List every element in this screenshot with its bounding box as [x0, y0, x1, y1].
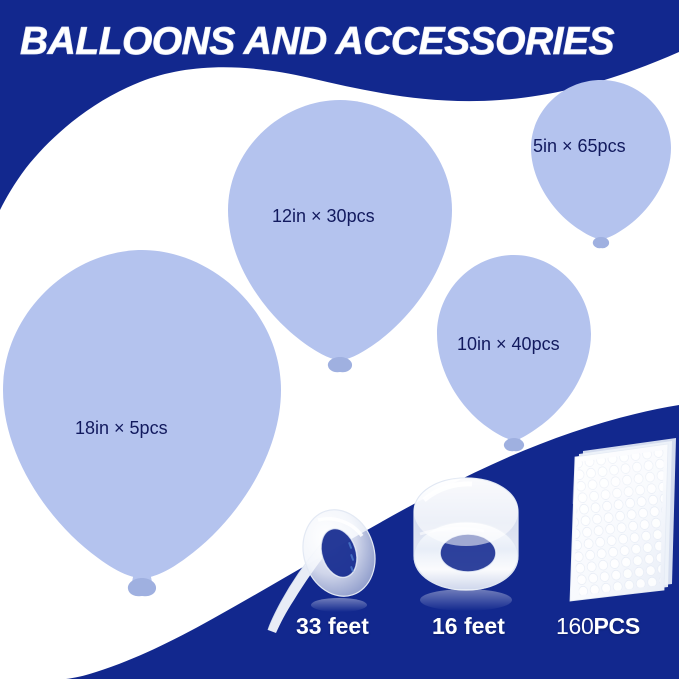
tape-strip-label: 33 feet: [296, 613, 369, 640]
glue-dots-unit: PCS: [593, 613, 639, 639]
arch-tape-label: 16 feet: [432, 613, 505, 640]
background-shapes: [0, 0, 679, 679]
balloon-10in-label: 10in × 40pcs: [457, 334, 560, 355]
balloon-18in-label: 18in × 5pcs: [75, 418, 168, 439]
product-infographic: BALLOONS AND ACCESSORIES 18in × 5pcs 12i…: [0, 0, 679, 679]
glue-dots-label: 160PCS: [556, 613, 640, 640]
balloon-12in-label: 12in × 30pcs: [272, 206, 375, 227]
balloon-5in-label: 5in × 65pcs: [533, 136, 626, 157]
page-title: BALLOONS AND ACCESSORIES: [20, 20, 679, 64]
glue-dots-count: 160: [556, 613, 593, 639]
